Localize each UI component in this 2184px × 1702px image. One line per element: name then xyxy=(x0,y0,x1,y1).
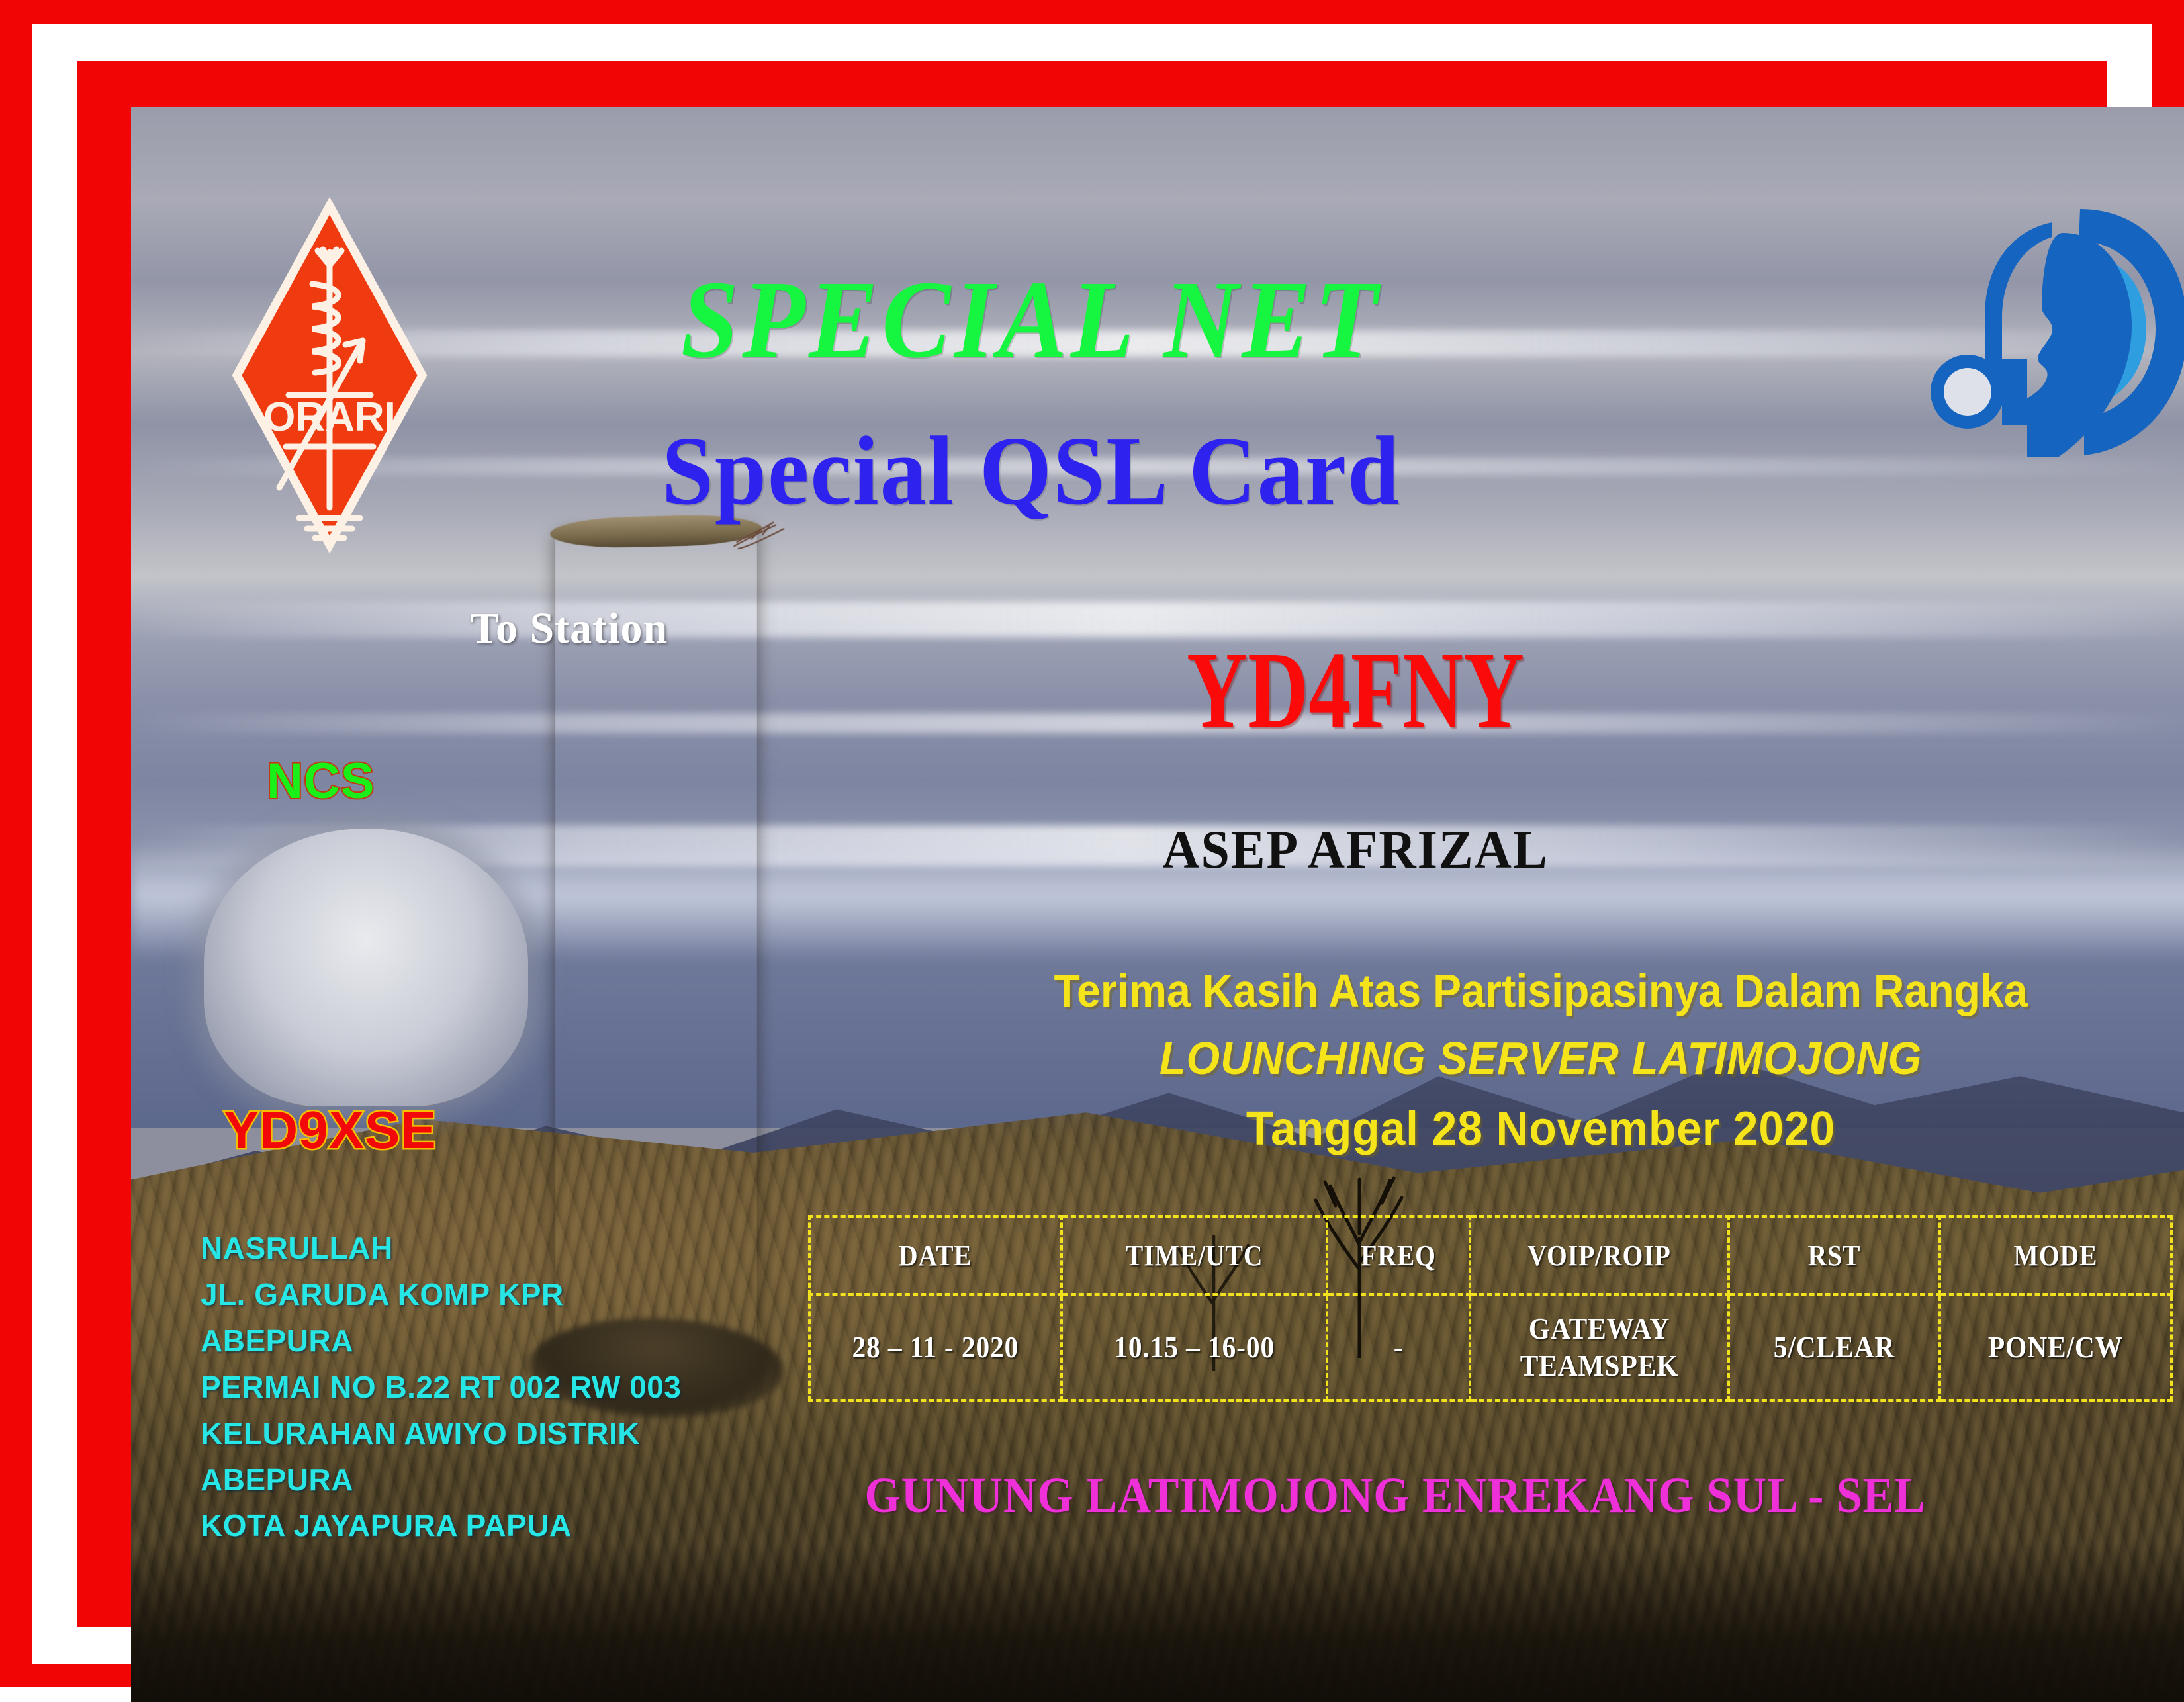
qso-log-table: DATE TIME/UTC FREQ VOIP/ROIP RST MODE 28… xyxy=(808,1215,2173,1402)
address-line: JL. GARUDA KOMP KPR xyxy=(201,1272,730,1318)
qsl-card-outer-border: ORARI SPECIAL NET xyxy=(0,0,2184,1687)
operator-name: ASEP AFRIZAL xyxy=(1085,819,1626,881)
cell-freq: - xyxy=(1334,1294,1463,1400)
address-line: ABEPURA xyxy=(201,1457,730,1503)
cell-voip-line-1: GATEWAY xyxy=(1484,1310,1714,1347)
ncs-postal-address: NASRULLAH JL. GARUDA KOMP KPR ABEPURA PE… xyxy=(201,1226,730,1549)
club-motto: "AMATIR RADIO ADALAH PROGRESIVE" xyxy=(263,1695,1147,1702)
message-line-3: Tanggal 28 November 2020 xyxy=(922,1102,2160,1156)
message-line-2: LOUNCHING SERVER LATIMOJONG xyxy=(929,1032,2154,1085)
page-title: SPECIAL NET xyxy=(194,256,1868,384)
ncs-label: NCS xyxy=(267,752,375,810)
page-subtitle: Special QSL Card xyxy=(176,415,1886,527)
qsl-card-inner-border: ORARI SPECIAL NET xyxy=(77,61,2107,1627)
column-header-date: DATE xyxy=(822,1216,1049,1294)
headset-profile-logo xyxy=(1928,200,2184,458)
cell-mode: PONE/CW xyxy=(1952,1294,2160,1400)
ncs-callsign: YD9XSE xyxy=(224,1100,437,1161)
column-header-rst: RST xyxy=(1739,1216,1929,1294)
station-callsign: YD4FNY xyxy=(1159,627,1553,752)
address-line: PERMAI NO B.22 RT 002 RW 003 xyxy=(201,1365,730,1411)
message-line-1: Terima Kasih Atas Partisipasinya Dalam R… xyxy=(935,964,2147,1017)
ground-shadow xyxy=(131,1543,2184,1702)
address-line: KOTA JAYAPURA PAPUA xyxy=(201,1503,730,1549)
address-line: KELURAHAN AWIYO DISTRIK xyxy=(201,1411,730,1457)
column-header-freq: FREQ xyxy=(1334,1216,1463,1294)
card-background-photo: ORARI SPECIAL NET xyxy=(131,107,2184,1702)
cell-time: 10.15 – 16-00 xyxy=(1075,1294,1314,1400)
ncs-operator-portrait: YD9XSE xyxy=(204,829,528,1106)
portrait-backdrop xyxy=(204,829,528,1106)
address-line: ABEPURA xyxy=(201,1318,730,1365)
table-row: 28 – 11 - 2020 10.15 – 16-00 - GATEWAY T… xyxy=(809,1294,2171,1400)
web-address: Address : amatir.latimojong.com xyxy=(1436,1695,2069,1702)
thank-you-message: Terima Kasih Atas Partisipasinya Dalam R… xyxy=(882,964,2184,1156)
headset-waves-icon xyxy=(1928,200,2184,458)
cell-date: 28 – 11 - 2020 xyxy=(822,1294,1049,1400)
cloud-streak xyxy=(131,602,2184,637)
table-header-row: DATE TIME/UTC FREQ VOIP/ROIP RST MODE xyxy=(809,1216,2171,1294)
cell-voip: GATEWAY TEAMSPEK xyxy=(1483,1294,1716,1400)
column-header-voip: VOIP/ROIP xyxy=(1483,1216,1716,1294)
to-station-label: To Station xyxy=(470,604,668,654)
qsl-card-white-border: ORARI SPECIAL NET xyxy=(32,24,2152,1664)
cell-voip-line-2: TEAMSPEK xyxy=(1484,1347,1714,1384)
column-header-mode: MODE xyxy=(1952,1216,2160,1294)
cell-rst: 5/CLEAR xyxy=(1739,1294,1929,1400)
column-header-time: TIME/UTC xyxy=(1075,1216,1314,1294)
address-line: NASRULLAH xyxy=(201,1226,730,1272)
location-line: GUNUNG LATIMOJONG ENREKANG SUL - SEL xyxy=(817,1467,1974,1525)
cloud-streak xyxy=(131,713,2184,733)
